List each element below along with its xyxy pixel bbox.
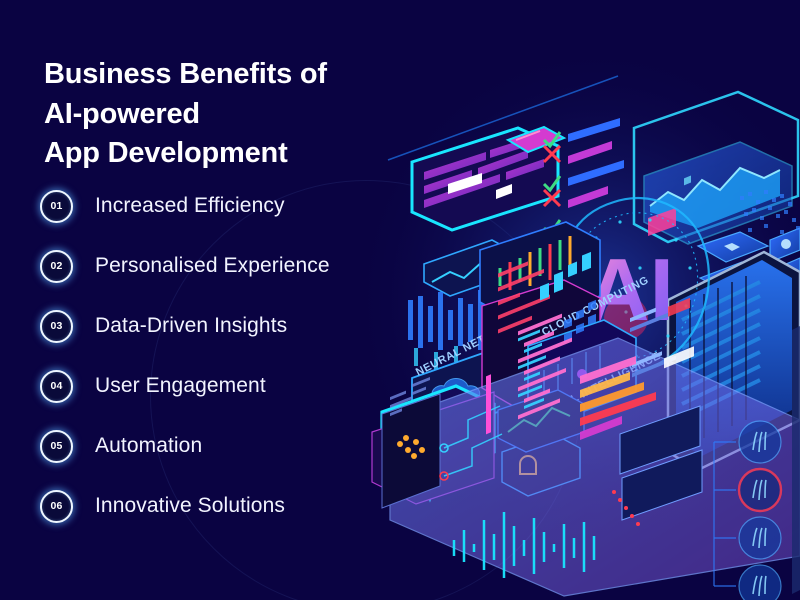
right-bezel — [792, 326, 800, 594]
benefit-label: User Engagement — [95, 374, 266, 398]
list-item: 05 Automation — [40, 416, 380, 476]
page-title: Business Benefits of AI-powered App Deve… — [44, 55, 354, 173]
list-item: 02 Personalised Experience — [40, 236, 380, 296]
benefit-number-badge: 01 — [40, 190, 73, 223]
list-item: 03 Data-Driven Insights — [40, 296, 380, 356]
benefit-number-badge: 04 — [40, 370, 73, 403]
benefit-label: Innovative Solutions — [95, 494, 285, 518]
benefit-label: Personalised Experience — [95, 254, 330, 278]
benefit-number-badge: 05 — [40, 430, 73, 463]
benefit-list: 01 Increased Efficiency 02 Personalised … — [40, 176, 380, 536]
ai-technology-illustration: AI — [368, 0, 800, 600]
list-item: 01 Increased Efficiency — [40, 176, 380, 236]
benefit-number-badge: 02 — [40, 250, 73, 283]
infographic-canvas: Business Benefits of AI-powered App Deve… — [0, 0, 800, 600]
benefit-label: Automation — [95, 434, 202, 458]
benefit-number-badge: 03 — [40, 310, 73, 343]
benefit-number-badge: 06 — [40, 490, 73, 523]
benefit-label: Data-Driven Insights — [95, 314, 287, 338]
list-item: 06 Innovative Solutions — [40, 476, 380, 536]
list-item: 04 User Engagement — [40, 356, 380, 416]
benefit-label: Increased Efficiency — [95, 194, 285, 218]
